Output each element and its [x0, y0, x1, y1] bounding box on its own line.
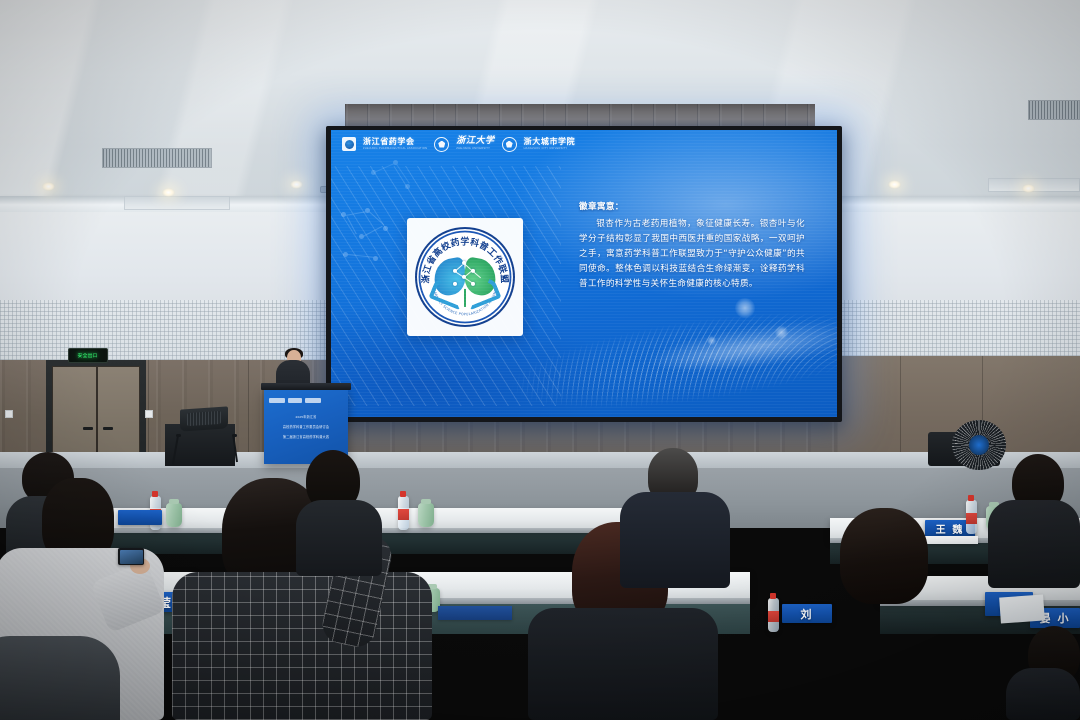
name-card-wang-text: 王 魏	[936, 521, 965, 536]
mic-head-left	[176, 434, 181, 437]
name-card-row1-left-text	[138, 513, 142, 522]
scene-root: 安全出口 安全出口 安全出口	[0, 0, 1080, 720]
hzcu-circle-logo	[502, 137, 517, 152]
alliance-emblem-card: 浙江省高校药学科普工作联盟 PHARMACY SCIENCE POPULARIZ…	[407, 218, 523, 336]
led-screen: 浙江省药学会 ZHEJIANG PHARMACEUTICAL ASSOCIATI…	[331, 130, 837, 417]
emblem-core-graphic	[434, 255, 496, 303]
podium-logo-row	[269, 397, 343, 404]
bladeless-fan	[952, 420, 1006, 470]
name-card-row1-left	[118, 510, 162, 525]
attendee-front-left-edge-body	[0, 636, 120, 720]
downlight-7	[888, 180, 901, 189]
podium-line-3: 第二届浙江省高校药学科普大赛	[273, 434, 339, 439]
molecule-decoration-left	[339, 208, 399, 268]
zjpa-square-logo	[342, 137, 356, 151]
molecule-decoration-upper	[371, 160, 419, 204]
logo-hzcu-en: HANGZHOU CITY UNIVERSITY	[524, 148, 576, 151]
podium-top-edge	[261, 383, 351, 390]
logo-zju-cn: 浙江大学	[456, 137, 494, 146]
attendee-suit-center-body	[620, 492, 730, 588]
downlight-8	[1022, 184, 1035, 193]
ceiling-vent-right	[1028, 100, 1080, 120]
exit-sign-left-text: 安全出口	[78, 352, 98, 359]
zju-circle-logo	[434, 137, 449, 152]
phone-grey-sweater[interactable]	[118, 548, 144, 565]
tea-mug-r1b	[418, 503, 434, 527]
downlight-2	[162, 188, 175, 197]
alliance-emblem: 浙江省高校药学科普工作联盟 PHARMACY SCIENCE POPULARIZ…	[415, 227, 515, 327]
attendee-navy-jacket-body	[770, 588, 994, 720]
water-bottle-r1a	[966, 500, 977, 534]
wall-switch-plate-right[interactable]	[145, 410, 153, 418]
water-bottle-r1b	[398, 496, 409, 530]
door-handle-right[interactable]	[103, 427, 113, 430]
attendee-plaid-body	[172, 572, 432, 720]
documents-r1a	[920, 536, 978, 544]
logo-hzcu: 浙大城市学院 HANGZHOU CITY UNIVERSITY	[524, 138, 576, 150]
downlight-1	[42, 182, 55, 191]
downlight-3	[290, 180, 303, 189]
attendee-center-woman-body	[528, 608, 718, 720]
ceiling-vent-left	[102, 148, 212, 168]
logo-zju-en: ZHEJIANG UNIVERSITY	[456, 148, 494, 151]
exit-sign-left: 安全出口	[68, 348, 108, 363]
ceiling-panel-left	[124, 196, 230, 210]
door-handle-left[interactable]	[83, 427, 93, 430]
podium-line-2: 高校药学科普工作委员会研讨会	[273, 424, 339, 429]
attendee-mid-left-body	[296, 500, 382, 576]
slide-logo-bar: 浙江省药学会 ZHEJIANG PHARMACEUTICAL ASSOCIATI…	[331, 130, 837, 158]
slide-paragraph: 银杏作为古老药用植物，象征健康长寿。银杏叶与化学分子结构彰显了我国中西医并重的国…	[579, 217, 805, 292]
podium-line-1: 2025年浙江省	[273, 414, 339, 419]
logo-hzcu-cn: 浙大城市学院	[524, 138, 576, 146]
slide-text-block: 徽章寓意： 银杏作为古老药用植物，象征健康长寿。银杏叶与化学分子结构彰显了我国中…	[579, 200, 805, 292]
attendee-far-right-body	[988, 500, 1080, 588]
stage-monitor-speaker	[180, 406, 228, 431]
wall-switch-plate-left[interactable]	[5, 410, 13, 418]
tea-mug-r1c	[166, 503, 182, 527]
logo-zju: 浙江大学 ZHEJIANG UNIVERSITY	[456, 137, 494, 150]
attendee-right-front-body	[1006, 668, 1080, 720]
logo-zjpa-cn: 浙江省药学会	[363, 138, 427, 146]
documents-r2r	[999, 594, 1045, 623]
folder-r2	[438, 606, 512, 620]
logo-zjpa: 浙江省药学会 ZHEJIANG PHARMACEUTICAL ASSOCIATI…	[363, 138, 427, 150]
slide-heading: 徽章寓意：	[579, 200, 805, 215]
logo-zjpa-en: ZHEJIANG PHARMACEUTICAL ASSOCIATION	[363, 148, 427, 151]
mic-head-right	[232, 434, 237, 437]
